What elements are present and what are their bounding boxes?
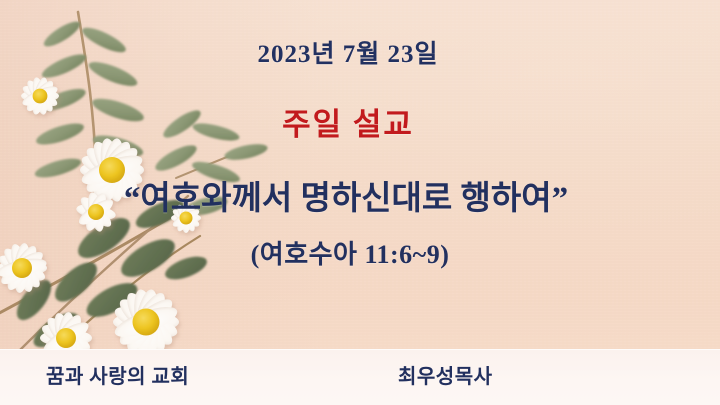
service-date: 2023년 7월 23일: [0, 34, 708, 70]
service-kind-heading: 주일 설교: [0, 99, 708, 144]
church-name: 꿈과 사랑의 교회: [46, 360, 189, 389]
sermon-slide: 2023년 7월 23일 주일 설교 “여호와께서 명하신대로 행하여” (여호…: [0, 0, 720, 405]
slide-content: 2023년 7월 23일 주일 설교 “여호와께서 명하신대로 행하여” (여호…: [0, 0, 720, 405]
preacher-name: 최우성목사: [398, 360, 493, 389]
sermon-title: “여호와께서 명하신대로 행하여”: [0, 171, 706, 219]
scripture-reference: (여호수아 11:6~9): [0, 234, 710, 271]
footer-bar: 꿈과 사랑의 교회 최우성목사: [0, 349, 720, 405]
